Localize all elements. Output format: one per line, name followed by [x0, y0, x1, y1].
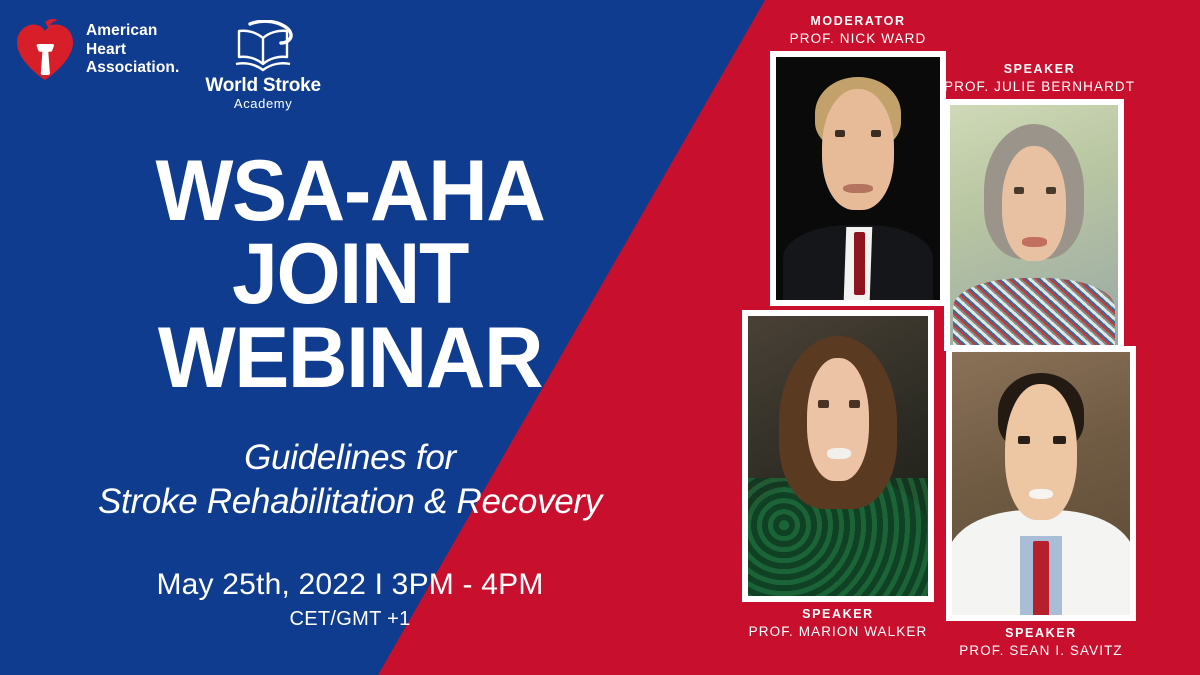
- photo-frame-bernhardt: [944, 99, 1124, 351]
- subtitle-line-1: Guidelines for: [0, 436, 700, 480]
- headline-block: WSA-AHA JOINT WEBINAR Guidelines for Str…: [0, 150, 700, 631]
- page-title: WSA-AHA JOINT WEBINAR: [14, 150, 686, 400]
- wsa-subword: Academy: [234, 96, 292, 111]
- photo-frame-ward: [770, 51, 946, 306]
- role-label-ward: MODERATOR: [770, 14, 946, 30]
- aha-line-3: Association.: [86, 59, 179, 78]
- page-subtitle: Guidelines for Stroke Rehabilitation & R…: [0, 436, 700, 524]
- role-label-bernhardt: SPEAKER: [944, 62, 1135, 78]
- caption-ward: MODERATOR PROF. NICK WARD: [770, 14, 946, 47]
- person-name-savitz: PROF. SEAN I. SAVITZ: [946, 642, 1136, 660]
- title-line-1: WSA-AHA: [14, 150, 686, 233]
- schedule-block: May 25th, 2022 I 3PM - 4PM CET/GMT +1: [0, 568, 700, 631]
- heart-torch-icon: [14, 18, 76, 82]
- aha-line-1: American: [86, 22, 179, 41]
- caption-walker: SPEAKER PROF. MARION WALKER: [742, 607, 934, 640]
- portrait-nick-ward: [776, 57, 940, 300]
- aha-line-2: Heart: [86, 41, 179, 60]
- subtitle-line-2: Stroke Rehabilitation & Recovery: [0, 480, 700, 524]
- speaker-card-ward: MODERATOR PROF. NICK WARD: [770, 14, 946, 306]
- speaker-card-savitz: SPEAKER PROF. SEAN I. SAVITZ: [946, 346, 1136, 659]
- open-book-globe-icon: [220, 20, 306, 74]
- speaker-card-walker: SPEAKER PROF. MARION WALKER: [742, 310, 934, 640]
- speaker-card-bernhardt: SPEAKER PROF. JULIE BERNHARDT: [944, 62, 1135, 351]
- person-name-ward: PROF. NICK WARD: [770, 30, 946, 48]
- caption-savitz: SPEAKER PROF. SEAN I. SAVITZ: [946, 626, 1136, 659]
- person-name-bernhardt: PROF. JULIE BERNHARDT: [944, 78, 1135, 96]
- aha-wordmark: American Heart Association.: [86, 22, 179, 79]
- portrait-marion-walker: [748, 316, 928, 596]
- photo-frame-savitz: [946, 346, 1136, 621]
- photo-frame-walker: [742, 310, 934, 602]
- title-line-3: WEBINAR: [14, 317, 686, 400]
- world-stroke-academy-logo: World Stroke Academy: [205, 18, 321, 111]
- role-label-walker: SPEAKER: [742, 607, 934, 623]
- event-date-time: May 25th, 2022 I 3PM - 4PM: [0, 568, 700, 602]
- wsa-wordmark: World Stroke: [205, 75, 321, 97]
- logo-lockup-row: American Heart Association. World Stroke…: [14, 18, 321, 111]
- webinar-promo-banner: American Heart Association. World Stroke…: [0, 0, 1200, 675]
- event-timezone: CET/GMT +1: [0, 608, 700, 631]
- person-name-walker: PROF. MARION WALKER: [742, 623, 934, 641]
- title-line-2: JOINT: [14, 233, 686, 316]
- portrait-julie-bernhardt: [950, 105, 1118, 345]
- caption-bernhardt: SPEAKER PROF. JULIE BERNHARDT: [944, 62, 1135, 95]
- american-heart-association-logo: American Heart Association.: [14, 18, 179, 82]
- role-label-savitz: SPEAKER: [946, 626, 1136, 642]
- portrait-sean-savitz: [952, 352, 1130, 615]
